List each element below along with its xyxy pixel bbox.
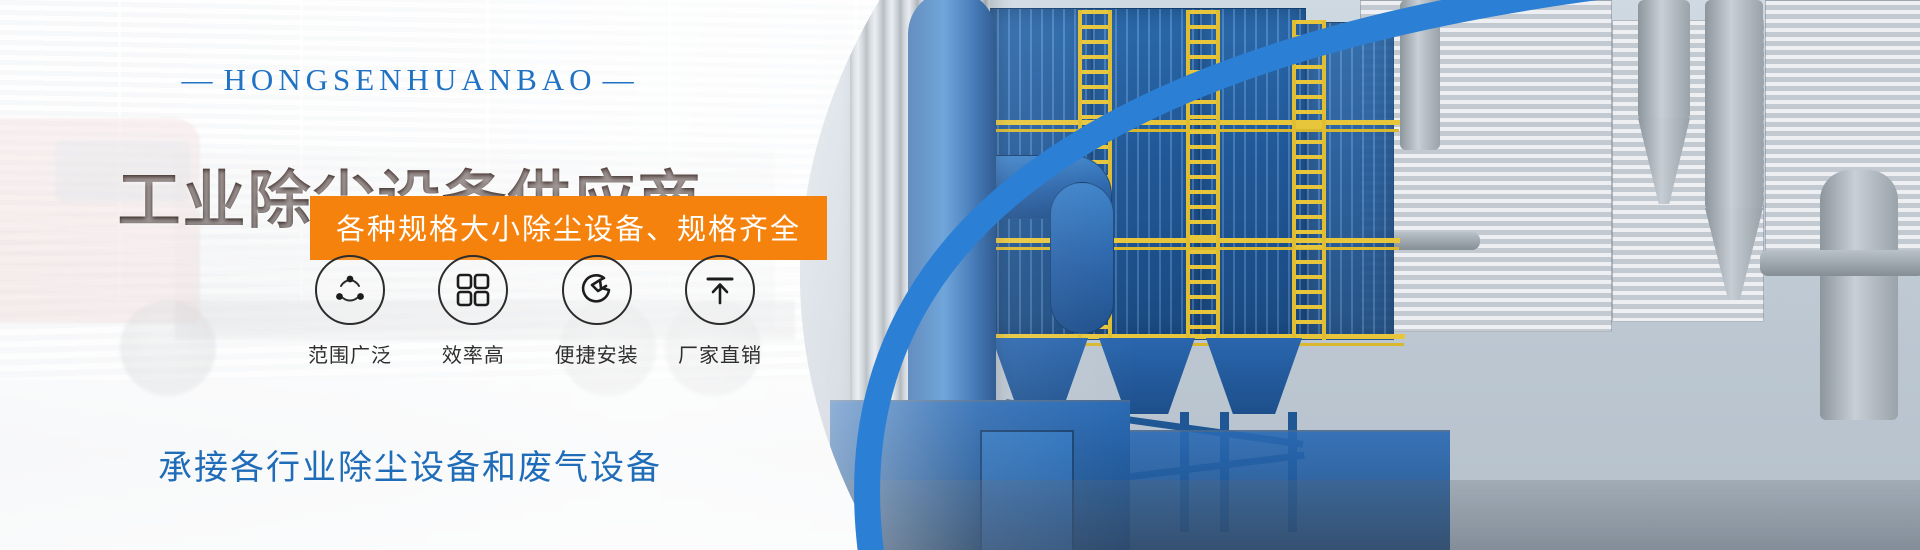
feature-item-factory-direct: 厂家直销 [670,255,770,368]
eyebrow-line: —HONGSENHUANBAO— [0,62,820,98]
feature-item-high-efficiency: 效率高 [423,255,523,368]
grid-squares-icon [438,255,508,325]
feature-label: 效率高 [423,339,523,368]
eyebrow-text: HONGSENHUANBAO [223,62,596,97]
eyebrow-dash-right: — [597,62,645,98]
network-nodes-icon [315,255,385,325]
tagline: 承接各行业除尘设备和废气设备 [0,440,820,489]
photo-edge-fade [800,0,1920,550]
wrench-icon [562,255,632,325]
banner-content: —HONGSENHUANBAO— 工业除尘设备供应商 各种规格大小除尘设备、规格… [0,0,900,550]
feature-list: 范围广泛 效率高 [300,255,770,368]
arrow-up-to-bar-icon [685,255,755,325]
feature-item-easy-install: 便捷安装 [547,255,647,368]
feature-label: 便捷安装 [547,339,647,368]
hero-banner: —HONGSENHUANBAO— 工业除尘设备供应商 各种规格大小除尘设备、规格… [0,0,1920,550]
equipment-photo [800,0,1920,550]
feature-label: 范围广泛 [300,339,400,368]
feature-item-wide-range: 范围广泛 [300,255,400,368]
feature-label: 厂家直销 [670,339,770,368]
subtitle-ribbon: 各种规格大小除尘设备、规格齐全 [310,196,827,260]
eyebrow-dash-left: — [175,62,223,98]
